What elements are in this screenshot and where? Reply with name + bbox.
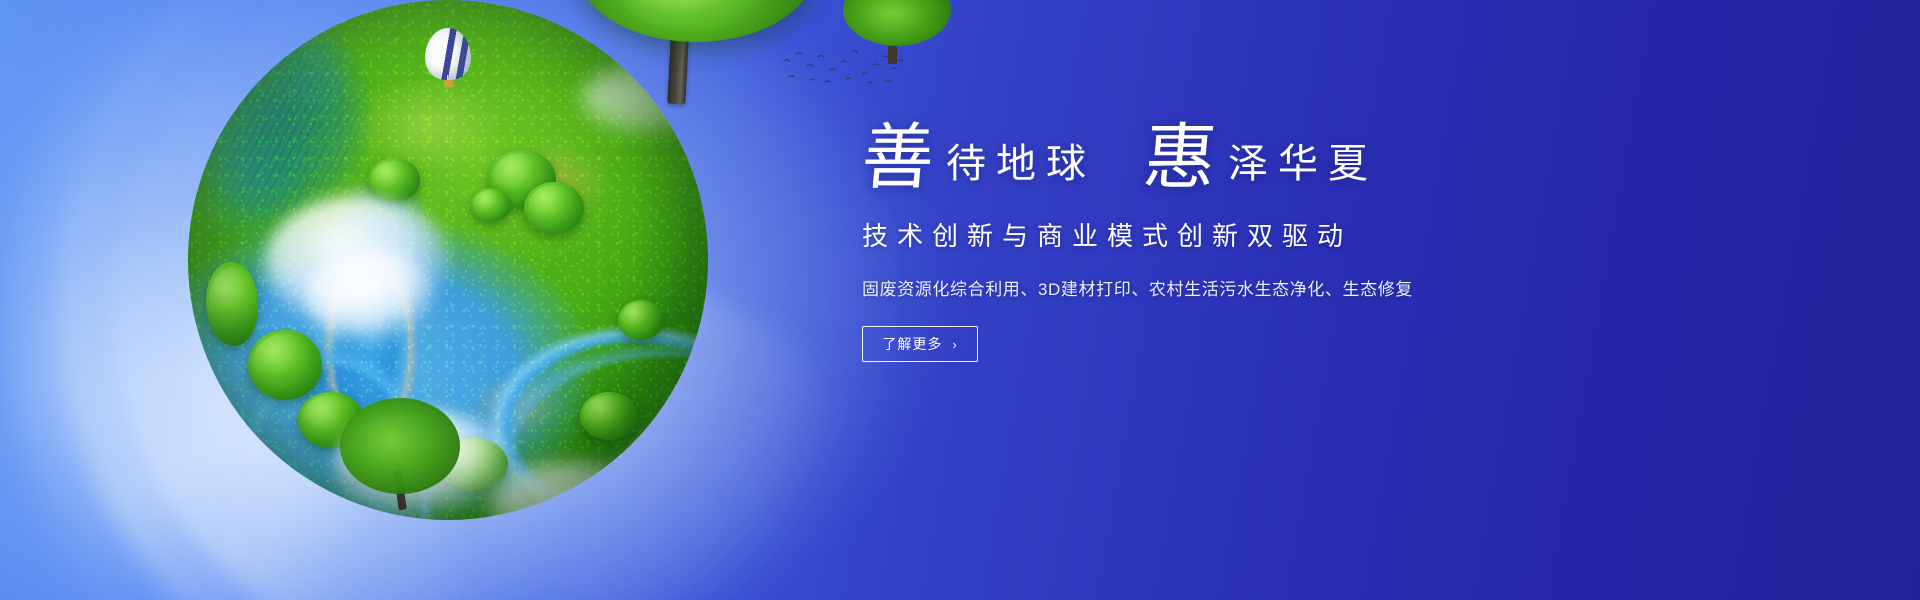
hero-banner: 善 待地球 惠 泽华夏 技术创新与商业模式创新双驱动 固废资源化综合利用、3D建… (0, 0, 1920, 600)
tree-canopy (843, 0, 951, 46)
green-planet-illustration (188, 0, 708, 520)
page-description: 固废资源化综合利用、3D建材打印、农村生活污水生态净化、生态修复 (862, 275, 1602, 300)
hero-text-block: 善 待地球 惠 泽华夏 技术创新与商业模式创新双驱动 固废资源化综合利用、3D建… (862, 118, 1602, 362)
birds-icon (780, 48, 906, 88)
balloon-envelope (425, 28, 471, 80)
page-subtitle: 技术创新与商业模式创新双驱动 (862, 216, 1602, 253)
headline-lead-char-2: 惠 (1141, 122, 1219, 194)
learn-more-label: 了解更多 (882, 334, 942, 354)
headline-lead-char-1: 善 (859, 122, 937, 194)
page-title: 善 待地球 惠 泽华夏 (862, 118, 1602, 190)
headline-rest-2: 泽华夏 (1216, 144, 1378, 184)
chevron-right-icon: › (952, 338, 957, 351)
learn-more-button[interactable]: 了解更多 › (862, 326, 978, 362)
hot-air-balloon-icon (425, 28, 471, 86)
balloon-basket (444, 80, 453, 87)
headline-rest-1: 待地球 (934, 144, 1096, 184)
